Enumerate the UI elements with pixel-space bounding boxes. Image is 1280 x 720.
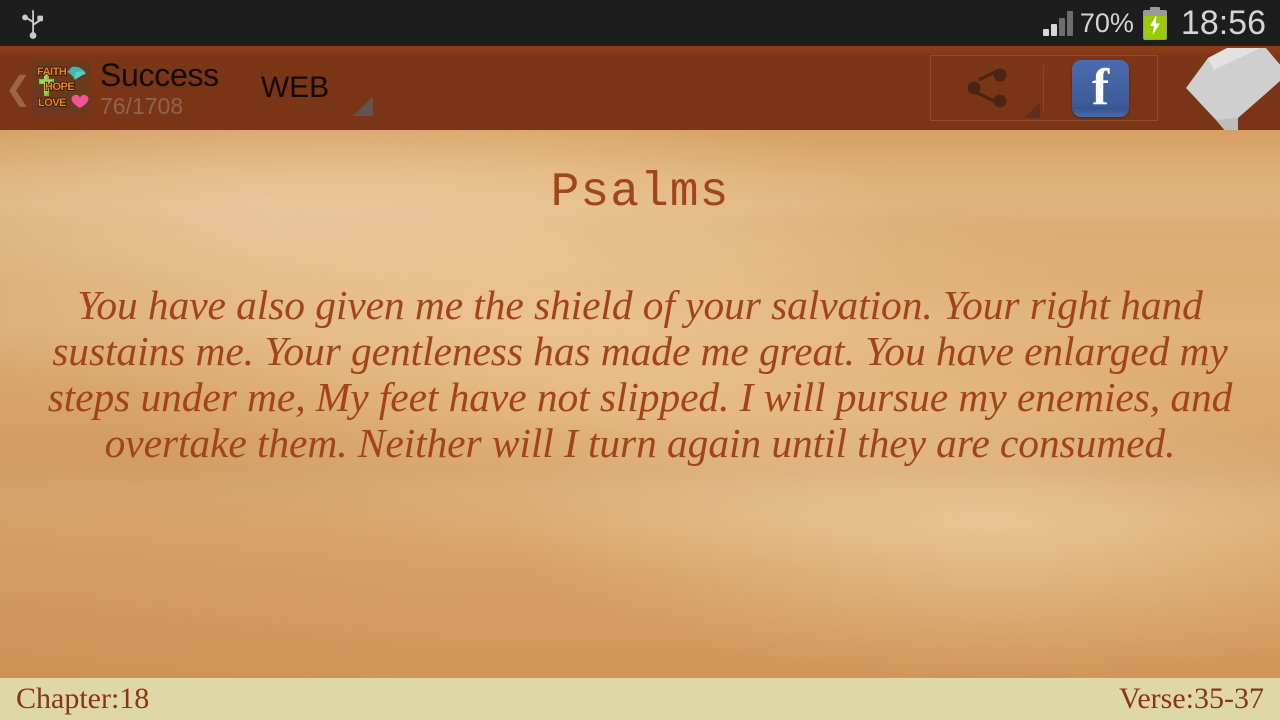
bookmark-ribbon-icon[interactable] [1164, 48, 1280, 130]
battery-charging-icon [1142, 7, 1168, 40]
facebook-button[interactable]: f [1044, 60, 1157, 117]
header-action-group: f [930, 55, 1158, 121]
chevron-corner-icon [353, 96, 373, 116]
status-clock: 18:56 [1181, 4, 1266, 43]
header-titles: Success 76/1708 [100, 59, 219, 118]
book-name-title: Psalms [0, 166, 1280, 220]
usb-icon [18, 6, 48, 40]
page-title: Success [100, 59, 219, 91]
status-right-group: 70% 18:56 [1043, 4, 1280, 43]
bible-version-dropdown[interactable]: WEB [261, 58, 377, 118]
chapter-label[interactable]: Chapter:18 [16, 682, 149, 716]
verse-wrapper: You have also given me the shield of you… [0, 282, 1280, 466]
share-button[interactable] [931, 56, 1043, 120]
battery-percent-label: 70% [1080, 8, 1134, 39]
verse-content-area[interactable]: Psalms You have also given me the shield… [0, 130, 1280, 678]
verse-text: You have also given me the shield of you… [30, 282, 1250, 466]
svg-text:LOVE: LOVE [38, 97, 66, 109]
app-root: 70% 18:56 ❮ [0, 0, 1280, 720]
share-chevron-corner-icon [1024, 102, 1040, 118]
back-button[interactable]: ❮ [4, 72, 32, 104]
verse-label[interactable]: Verse:35-37 [1119, 682, 1264, 716]
bible-version-label: WEB [261, 71, 329, 105]
facebook-icon: f [1072, 60, 1129, 117]
app-header-bar: ❮ FAITH HOPE LOVE Success [0, 46, 1280, 130]
footer-bar: Chapter:18 Verse:35-37 [0, 678, 1280, 720]
facebook-glyph: f [1072, 58, 1129, 117]
signal-bars-icon [1043, 10, 1073, 36]
faith-hope-love-logo-icon[interactable]: FAITH HOPE LOVE [32, 61, 90, 115]
share-icon [961, 65, 1013, 111]
svg-text:FAITH: FAITH [37, 66, 67, 78]
progress-counter: 76/1708 [100, 95, 219, 118]
svg-text:HOPE: HOPE [45, 81, 74, 93]
android-status-bar: 70% 18:56 [0, 0, 1280, 46]
